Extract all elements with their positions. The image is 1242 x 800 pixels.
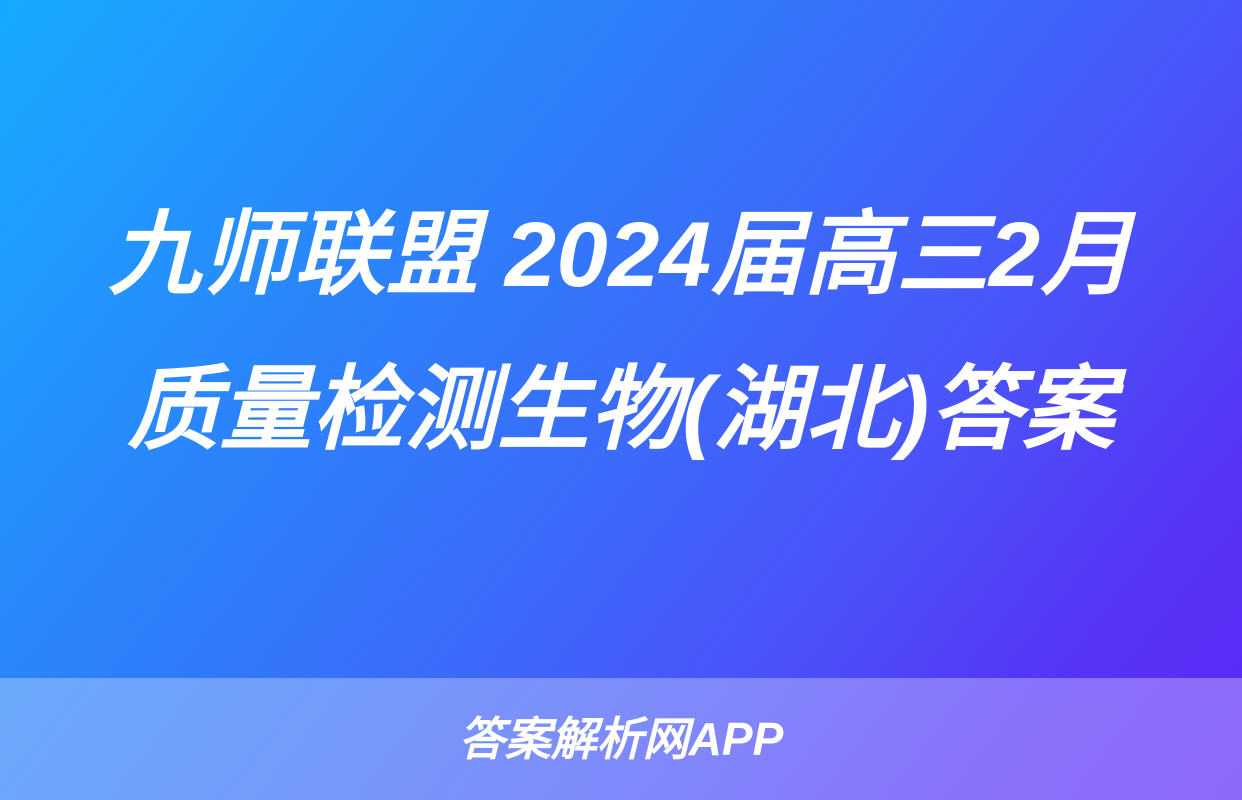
poster-canvas: 九师联盟 2024届高三2月质量检测生物(湖北)答案 答案解析网APP	[0, 0, 1242, 800]
watermark-label: 答案解析网APP	[459, 716, 784, 762]
title-area: 九师联盟 2024届高三2月质量检测生物(湖北)答案	[0, 178, 1242, 488]
watermark-band: 答案解析网APP	[0, 678, 1242, 800]
page-title: 九师联盟 2024届高三2月质量检测生物(湖北)答案	[96, 178, 1146, 488]
